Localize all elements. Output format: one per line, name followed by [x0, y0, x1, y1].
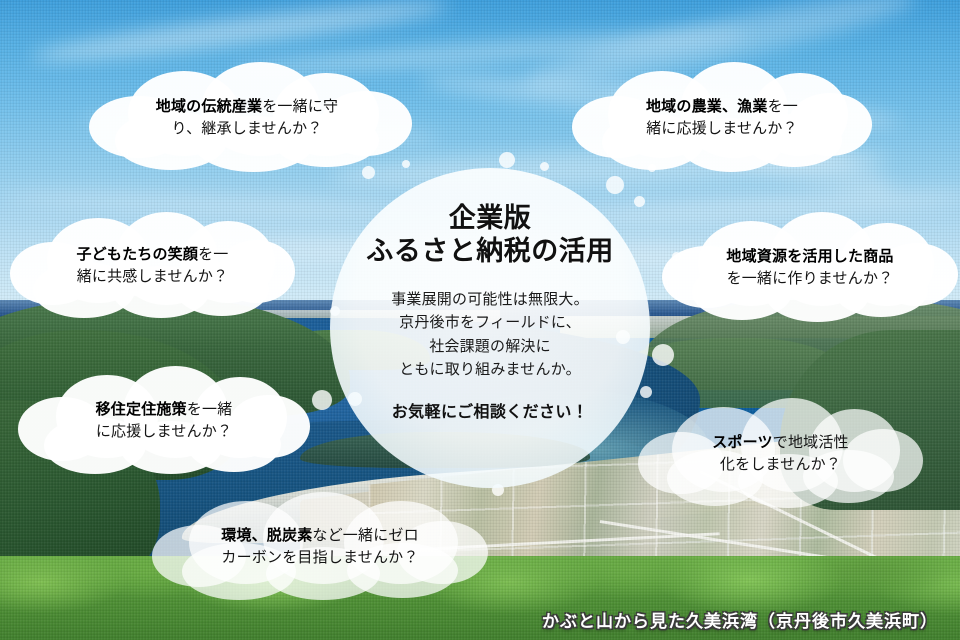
- bubble-text-line2: 緒に共感しませんか？: [77, 268, 229, 285]
- poster-root: 企業版 ふるさと納税の活用 事業展開の可能性は無限大。 京丹後市をフィールドに、…: [0, 0, 960, 640]
- speech-bubble-children[interactable]: 子どもたちの笑顔を一 緒に共感しませんか？: [10, 212, 295, 320]
- decorative-bubble-dot: [640, 386, 652, 398]
- speech-bubble-sports[interactable]: スポーツで地域活性 化をしませんか？: [638, 398, 923, 510]
- bubble-text-line1: 子どもたちの笑顔を一: [76, 246, 228, 263]
- main-title-line1: 企業版: [366, 202, 614, 235]
- bubble-keyword: 地域の伝統産業: [156, 98, 262, 115]
- bubble-keyword: 子どもたちの笑顔: [76, 246, 198, 263]
- main-body-line1: 事業展開の可能性は無限大。: [391, 288, 589, 311]
- bubble-text-line1: 地域資源を活用した商品: [726, 248, 893, 265]
- main-body-line3: 社会課題の解決に: [391, 335, 589, 358]
- bubble-text-line2: を一緒に作りませんか？: [727, 270, 894, 287]
- bubble-text-line2: カーボンを目指しませんか？: [221, 549, 418, 566]
- bubble-keyword: 移住定住施策: [96, 401, 187, 418]
- decorative-bubble-dot: [499, 152, 515, 168]
- bubble-keyword: 地域の農業、漁業: [646, 98, 768, 115]
- bubble-keyword: 地域資源を活用した商品: [726, 248, 893, 265]
- main-body-line2: 京丹後市をフィールドに、: [391, 311, 589, 334]
- main-message-circle: 企業版 ふるさと納税の活用 事業展開の可能性は無限大。 京丹後市をフィールドに、…: [330, 168, 650, 488]
- bubble-keyword: スポーツ: [712, 434, 773, 451]
- main-body-line4: ともに取り組みませんか。: [391, 358, 589, 381]
- main-title: 企業版 ふるさと納税の活用: [366, 202, 614, 268]
- bubble-text-line1: 移住定住施策を一緒: [96, 401, 233, 418]
- bubble-text-line2: 化をしませんか？: [720, 456, 841, 473]
- decorative-bubble-dot: [312, 390, 332, 410]
- main-title-line2: ふるさと納税の活用: [366, 235, 614, 268]
- bubble-text-line2: に応援しませんか？: [96, 423, 232, 440]
- consultation-cta: お気軽にご相談ください！: [392, 398, 588, 422]
- speech-bubble-zero-carbon[interactable]: 環境、脱炭素など一緒にゼロ カーボンを目指しませんか？: [152, 492, 488, 602]
- main-body-text: 事業展開の可能性は無限大。 京丹後市をフィールドに、 社会課題の解決に ともに取…: [391, 288, 589, 382]
- decorative-bubble-dot: [652, 344, 674, 366]
- decorative-bubble-dot: [606, 176, 624, 194]
- decorative-bubble-dot: [540, 162, 549, 171]
- speech-bubble-migration[interactable]: 移住定住施策を一緒 に応援しませんか？: [18, 366, 310, 476]
- photo-caption: かぶと山から見た久美浜湾（京丹後市久美浜町）: [542, 607, 938, 632]
- bubble-keyword: 環境、脱炭素: [221, 527, 312, 544]
- bubble-text: スポーツで地域活性 化をしませんか？: [702, 432, 859, 477]
- bubble-text-line2: り、継承しませんか？: [172, 120, 323, 137]
- bubble-text: 子どもたちの笑顔を一 緒に共感しませんか？: [66, 244, 238, 289]
- bubble-text-line1: 環境、脱炭素など一緒にゼロ: [221, 527, 419, 544]
- bubble-text: 地域の農業、漁業を一 緒に応援しませんか？: [636, 96, 808, 141]
- bubble-text: 地域の伝統産業を一緒に守 り、継承しませんか？: [146, 96, 348, 141]
- decorative-bubble-dot: [634, 196, 645, 207]
- bubble-text: 移住定住施策を一緒 に応援しませんか？: [86, 399, 243, 444]
- speech-bubble-agriculture[interactable]: 地域の農業、漁業を一 緒に応援しませんか？: [572, 62, 872, 174]
- speech-bubble-tradition[interactable]: 地域の伝統産業を一緒に守 り、継承しませんか？: [82, 62, 412, 174]
- bubble-text-line1: 地域の伝統産業を一緒に守: [156, 98, 338, 115]
- bubble-text-line1: スポーツで地域活性: [712, 434, 849, 451]
- speech-bubble-local-resources[interactable]: 地域資源を活用した商品 を一緒に作りませんか？: [662, 212, 958, 324]
- bubble-text-line1: 地域の農業、漁業を一: [646, 98, 798, 115]
- bubble-text: 地域資源を活用した商品 を一緒に作りませんか？: [716, 246, 903, 291]
- bubble-text: 環境、脱炭素など一緒にゼロ カーボンを目指しませんか？: [211, 525, 429, 570]
- bubble-text-line2: 緒に応援しませんか？: [646, 120, 798, 137]
